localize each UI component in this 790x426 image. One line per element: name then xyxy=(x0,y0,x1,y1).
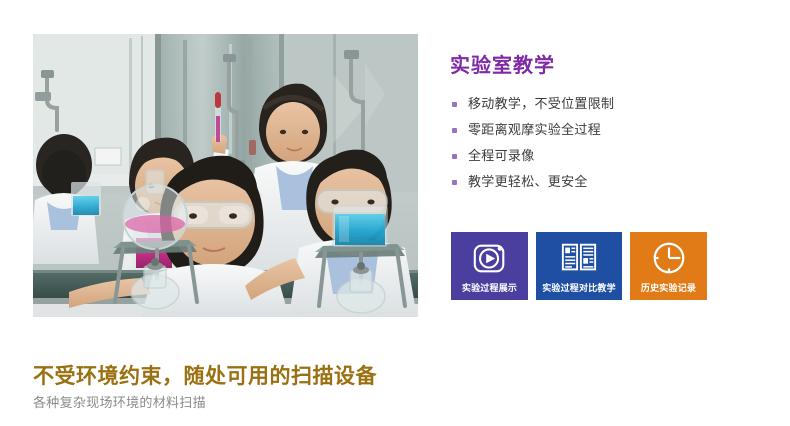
page-subheading: 各种复杂现场环境的材料扫描 xyxy=(33,393,673,415)
video-play-icon xyxy=(471,239,509,277)
bullet-dot-icon xyxy=(452,154,457,159)
bullet-text: 移动教学，不受位置限制 xyxy=(468,97,614,112)
bullet-dot-icon xyxy=(452,180,457,185)
photo-illustration xyxy=(33,34,418,317)
section-title: 实验室教学 xyxy=(450,52,770,78)
lab-teaching-section: 实验室教学 移动教学，不受位置限制 零距离观摩实验全过程 全程可录像 教学更轻松… xyxy=(450,52,770,196)
bottom-heading-block: 不受环境约束，随处可用的扫描设备 各种复杂现场环境的材料扫描 xyxy=(33,362,673,415)
feature-tile-group: 实验过程展示 实验过程对比教学 xyxy=(451,232,707,300)
tile-comparison-teaching[interactable]: 实验过程对比教学 xyxy=(536,232,622,300)
compare-documents-icon xyxy=(560,239,598,277)
bullet-dot-icon xyxy=(452,128,457,133)
tile-label: 实验过程展示 xyxy=(451,281,528,294)
feature-bullet-list: 移动教学，不受位置限制 零距离观摩实验全过程 全程可录像 教学更轻松、更安全 xyxy=(450,92,770,196)
tile-label: 实验过程对比教学 xyxy=(536,281,622,294)
tile-label: 历史实验记录 xyxy=(630,281,707,294)
list-item: 零距离观摩实验全过程 xyxy=(450,118,770,144)
list-item: 教学更轻松、更安全 xyxy=(450,170,770,196)
tile-history-records[interactable]: 历史实验记录 xyxy=(630,232,707,300)
tile-experiment-demo[interactable]: 实验过程展示 xyxy=(451,232,528,300)
page-heading: 不受环境约束，随处可用的扫描设备 xyxy=(33,362,673,390)
list-item: 移动教学，不受位置限制 xyxy=(450,92,770,118)
bullet-dot-icon xyxy=(452,102,457,107)
bullet-text: 全程可录像 xyxy=(468,149,535,164)
bullet-text: 零距离观摩实验全过程 xyxy=(468,123,601,138)
clock-icon xyxy=(650,239,688,277)
laboratory-classroom-photo xyxy=(33,34,418,317)
bullet-text: 教学更轻松、更安全 xyxy=(468,175,588,190)
list-item: 全程可录像 xyxy=(450,144,770,170)
